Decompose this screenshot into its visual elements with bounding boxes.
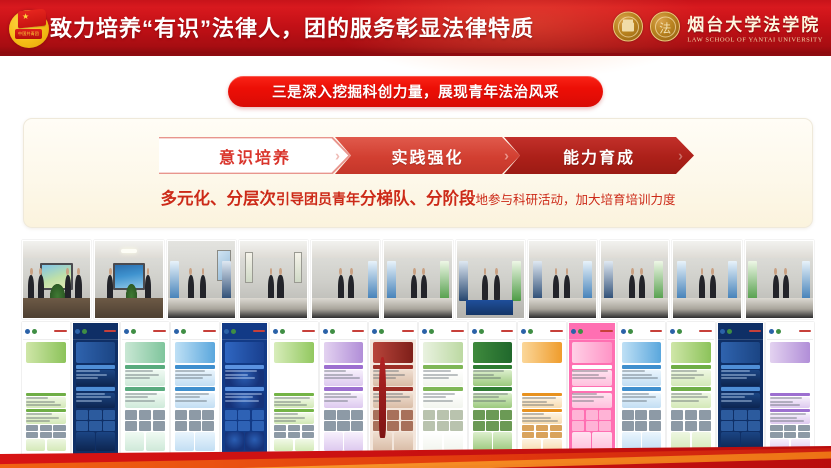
- poster-body: [622, 365, 662, 451]
- poster-item[interactable]: [72, 322, 120, 455]
- poster-text-line: [721, 377, 748, 379]
- poster-text-line: [423, 370, 451, 372]
- poster-text-line: [473, 377, 502, 379]
- poster-text-line: [175, 393, 209, 395]
- poster-photo-cell: [748, 410, 760, 420]
- poster-text-block: [175, 370, 215, 385]
- poster-header: [321, 323, 367, 340]
- poster-text-line: [76, 374, 107, 376]
- poster-header-rule: [302, 330, 314, 332]
- poster-photo-cell: [103, 410, 115, 420]
- poster-text-line: [622, 400, 647, 402]
- poster-logo-icon: [280, 329, 285, 334]
- poster-text-line: [622, 374, 652, 376]
- poster-text-block: [721, 370, 761, 385]
- poster-photo-cell: [26, 425, 38, 431]
- poster-photo-cell: [649, 410, 661, 420]
- poster-text-block: [324, 393, 364, 408]
- poster-item[interactable]: [221, 322, 269, 455]
- poster-logo-icon: [429, 329, 434, 334]
- poster-photo-cell: [500, 421, 512, 431]
- poster-item[interactable]: [171, 322, 219, 455]
- poster-logo-icon: [776, 329, 781, 334]
- poster-text-line: [423, 374, 458, 376]
- poster-section-bar: [324, 387, 364, 391]
- poster-header: [222, 323, 268, 340]
- poster-photo-cell: [202, 410, 214, 420]
- poster-text-block: [274, 413, 314, 424]
- poster-photo-cell: [238, 410, 250, 420]
- poster-text-line: [225, 400, 260, 402]
- poster-title-band: [423, 342, 463, 363]
- poster-photo-cell: [288, 425, 300, 431]
- poster-title-band: [225, 342, 265, 363]
- poster-photo-cell: [784, 432, 796, 438]
- poster-photo-cell: [572, 421, 584, 431]
- sentence-segment-3: 分梯队、分阶段: [360, 189, 476, 208]
- poster-title-band: [324, 342, 364, 363]
- brand-name-cn: 烟台大学法学院: [687, 10, 823, 35]
- poster-item[interactable]: [369, 322, 417, 455]
- poster-photo-cell: [401, 410, 413, 420]
- section-title-text: 三是深入挖掘科创力量，展现青年法治风采: [272, 81, 559, 102]
- poster-header: [420, 323, 466, 340]
- chevron-step-3-label: 能力育成: [563, 144, 635, 168]
- poster-logo-icon: [231, 329, 236, 334]
- poster-header: [569, 323, 615, 340]
- poster-body: [473, 365, 513, 451]
- poster-photo-cell: [337, 410, 349, 420]
- poster-text-line: [522, 420, 558, 422]
- poster-header-rule: [104, 330, 116, 332]
- poster-photo-cell: [798, 432, 810, 438]
- poster-text-line: [721, 396, 745, 398]
- poster-logo-icon: [224, 329, 229, 334]
- photo-item[interactable]: [745, 240, 814, 319]
- poster-section-bar: [770, 393, 810, 395]
- poster-body: [175, 365, 215, 451]
- poster-header: [271, 323, 317, 340]
- poster-section-bar: [721, 387, 761, 391]
- poster-photo-cell: [53, 425, 65, 431]
- poster-text-block: [125, 393, 165, 408]
- section-title-banner: 三是深入挖掘科创力量，展现青年法治风采: [228, 76, 603, 107]
- poster-body: [125, 365, 165, 451]
- poster-photo-cell: [175, 421, 187, 431]
- poster-text-line: [423, 393, 455, 395]
- poster-photo-cell: [153, 410, 165, 420]
- poster-text-line: [125, 374, 159, 376]
- poster-text-line: [622, 377, 659, 379]
- poster-text-line: [125, 400, 154, 402]
- poster-item[interactable]: [121, 322, 169, 455]
- university-seal-icon: [613, 12, 643, 42]
- poster-text-line: [373, 400, 400, 402]
- poster-section-bar: [324, 365, 364, 369]
- photo-item[interactable]: [456, 240, 525, 319]
- poster-text-block: [125, 370, 165, 385]
- poster-body: [770, 365, 810, 451]
- poster-text-line: [324, 377, 360, 379]
- poster-photo-cell: [622, 410, 634, 420]
- poster-text-line: [76, 396, 112, 398]
- poster-photo-cell: [770, 432, 782, 438]
- poster-text-block: [522, 413, 562, 424]
- poster-section-bar: [225, 365, 265, 369]
- poster-text-line: [770, 401, 793, 403]
- poster-header: [122, 323, 168, 340]
- poster-text-line: [423, 377, 449, 379]
- poster-text-line: [373, 370, 398, 372]
- poster-photo-cell: [189, 410, 201, 420]
- poster-item[interactable]: [469, 322, 517, 455]
- photo-item[interactable]: [528, 240, 597, 319]
- poster-text-block: [671, 393, 711, 408]
- poster-header-rule: [451, 330, 463, 332]
- poster-title-band: [125, 342, 165, 363]
- photo-item[interactable]: [22, 240, 91, 319]
- poster-photo-cell: [671, 410, 683, 420]
- poster-photo-cell: [175, 410, 187, 420]
- poster-photo-cell: [40, 432, 52, 438]
- poster-section-bar: [721, 365, 761, 369]
- poster-text-line: [175, 370, 205, 372]
- poster-logo-icon: [571, 329, 576, 334]
- poster-text-line: [26, 420, 50, 422]
- poster-text-line: [671, 377, 695, 379]
- poster-item[interactable]: [270, 322, 318, 455]
- poster-photo-cell: [536, 425, 548, 431]
- poster-title-band: [473, 342, 513, 363]
- poster-item[interactable]: [568, 322, 616, 455]
- poster-text-block: [26, 397, 66, 408]
- emblem-band-label: 中国共青团: [18, 31, 39, 37]
- poster-photo-cell: [125, 421, 137, 431]
- poster-photo-cell: [635, 421, 647, 431]
- poster-logo-icon: [528, 329, 533, 334]
- poster-photo-grid: [522, 425, 562, 438]
- poster-photo-cell: [337, 421, 349, 431]
- poster-photo-cell: [274, 432, 286, 438]
- poster-photo-cell: [103, 421, 115, 431]
- poster-text-line: [26, 404, 61, 406]
- poster-text-block: [622, 370, 662, 385]
- poster-text-line: [423, 400, 453, 402]
- poster-header-rule: [253, 330, 265, 332]
- poster-photo-grid: [770, 425, 810, 438]
- poster-photo-cell: [26, 432, 38, 438]
- poster-logo-icon: [578, 329, 583, 334]
- poster-logo-icon: [621, 329, 626, 334]
- chevron-step-2: 实践强化 ›: [335, 137, 520, 174]
- poster-photo-cell: [153, 421, 165, 431]
- poster-body: [423, 365, 463, 451]
- poster-text-line: [473, 374, 495, 376]
- poster-item[interactable]: [419, 322, 467, 455]
- poster-text-line: [225, 370, 258, 372]
- poster-text-line: [225, 374, 249, 376]
- poster-text-line: [324, 374, 353, 376]
- poster-section-bar: [225, 387, 265, 391]
- poster-text-line: [125, 396, 148, 398]
- poster-item[interactable]: [320, 322, 368, 455]
- poster-photo-cell: [770, 425, 782, 431]
- poster-text-line: [225, 396, 253, 398]
- poster-photo-cell: [550, 432, 562, 438]
- footer-ribbon: [0, 446, 831, 468]
- poster-header: [73, 323, 119, 340]
- poster-body: [324, 365, 364, 451]
- poster-section-bar: [26, 409, 66, 411]
- poster-text-line: [373, 374, 405, 376]
- research-poster-row: [22, 322, 814, 455]
- sentence-segment-1: 多元化、分层次: [160, 189, 276, 208]
- poster-diagram: [779, 367, 802, 390]
- poster-photo-cell: [699, 421, 711, 431]
- poster-photo-cell: [252, 421, 264, 431]
- content-card: 意识培养 › 实践强化 › 能力育成 › 多元化、分层次引导团员青年分梯队、分阶…: [23, 118, 813, 228]
- poster-photo-cell: [225, 410, 237, 420]
- poster-body: [721, 365, 761, 451]
- poster-item[interactable]: [766, 322, 814, 455]
- poster-logo-icon: [273, 329, 278, 334]
- poster-logo-icon: [720, 329, 725, 334]
- poster-text-line: [622, 393, 650, 395]
- poster-text-line: [671, 396, 708, 398]
- poster-item[interactable]: [667, 322, 715, 455]
- poster-header-rule: [799, 330, 811, 332]
- poster-text-line: [274, 417, 305, 419]
- poster-section-bar: [175, 387, 215, 391]
- poster-section-bar: [473, 387, 513, 391]
- poster-body: [572, 365, 612, 451]
- poster-photo-cell: [550, 425, 562, 431]
- poster-photo-cell: [189, 421, 201, 431]
- poster-photo-cell: [572, 410, 584, 420]
- poster-text-line: [522, 397, 556, 399]
- poster-text-line: [770, 420, 804, 422]
- poster-text-line: [622, 370, 645, 372]
- photo-item[interactable]: [311, 240, 380, 319]
- photo-item[interactable]: [600, 240, 669, 319]
- card-body-sentence: 多元化、分层次引导团员青年分梯队、分阶段地参与科研活动，加大培育培训力度: [24, 185, 812, 209]
- process-chevron-strip: 意识培养 › 实践强化 › 能力育成 ›: [159, 137, 709, 174]
- poster-text-line: [522, 404, 553, 406]
- poster-photo-cell: [89, 421, 101, 431]
- poster-photo-cell: [89, 410, 101, 420]
- poster-photo-cell: [473, 410, 485, 420]
- poster-photo-cell: [351, 410, 363, 420]
- poster-item[interactable]: [22, 322, 70, 455]
- poster-text-block: [473, 370, 513, 385]
- poster-photo-cell: [76, 421, 88, 431]
- poster-logo-icon: [422, 329, 427, 334]
- poster-title-band: [622, 342, 662, 363]
- poster-section-bar: [522, 393, 562, 395]
- poster-text-line: [274, 413, 298, 415]
- poster-photo-grid: [423, 410, 463, 431]
- poster-text-line: [26, 417, 59, 419]
- poster-header: [718, 323, 764, 340]
- poster-photo-cell: [500, 410, 512, 420]
- poster-photo-cell: [401, 421, 413, 431]
- poster-header: [668, 323, 714, 340]
- poster-logo-icon: [330, 329, 335, 334]
- poster-text-line: [770, 413, 806, 415]
- poster-text-line: [324, 396, 358, 398]
- poster-title-band: [76, 342, 116, 363]
- poster-header-rule: [203, 330, 215, 332]
- poster-text-line: [125, 393, 157, 395]
- poster-photo-grid: [622, 410, 662, 431]
- poster-logo-icon: [75, 329, 80, 334]
- poster-logo-icon: [25, 329, 30, 334]
- poster-text-line: [274, 404, 307, 406]
- poster-section-bar: [76, 365, 116, 369]
- poster-header: [23, 323, 69, 340]
- poster-photo-grid: [175, 410, 215, 431]
- poster-logo-icon: [379, 329, 384, 334]
- poster-title-band: [175, 342, 215, 363]
- poster-section-bar: [671, 365, 711, 369]
- poster-item[interactable]: [717, 322, 765, 455]
- poster-header: [767, 323, 813, 340]
- poster-section-bar: [473, 365, 513, 369]
- poster-text-line: [671, 393, 702, 395]
- poster-photo-grid: [225, 410, 265, 431]
- poster-header-rule: [600, 330, 612, 332]
- poster-text-line: [671, 400, 699, 402]
- poster-header: [172, 323, 218, 340]
- poster-text-block: [572, 393, 612, 408]
- poster-photo-cell: [721, 421, 733, 431]
- poster-text-line: [572, 374, 599, 376]
- poster-text-line: [125, 377, 150, 379]
- poster-photo-cell: [784, 425, 796, 431]
- poster-photo-cell: [252, 410, 264, 420]
- poster-section-bar: [522, 409, 562, 411]
- poster-section-bar: [423, 365, 463, 369]
- poster-text-line: [76, 377, 98, 379]
- poster-photo-cell: [599, 410, 611, 420]
- poster-photo-cell: [473, 421, 485, 431]
- poster-ribbon-graphic: [379, 357, 386, 438]
- slide-header-title: 致力培养“有识”法律人，团的服务彰显法律特质: [50, 11, 534, 43]
- poster-photo-cell: [423, 421, 435, 431]
- poster-text-line: [671, 370, 697, 372]
- poster-text-block: [522, 397, 562, 408]
- poster-logo-icon: [372, 329, 377, 334]
- poster-photo-cell: [225, 421, 237, 431]
- poster-text-line: [572, 370, 608, 372]
- poster-photo-cell: [635, 410, 647, 420]
- poster-body: [225, 365, 265, 451]
- poster-header-rule: [352, 330, 364, 332]
- poster-text-line: [175, 396, 200, 398]
- poster-text-line: [721, 370, 750, 372]
- photo-item[interactable]: [383, 240, 452, 319]
- poster-photo-cell: [423, 410, 435, 420]
- poster-photo-grid: [473, 410, 513, 431]
- poster-item[interactable]: [518, 322, 566, 455]
- photo-item[interactable]: [672, 240, 741, 319]
- poster-title-band: [770, 342, 810, 363]
- poster-photo-cell: [798, 425, 810, 431]
- poster-text-block: [26, 413, 66, 424]
- poster-logo-icon: [181, 329, 186, 334]
- poster-photo-cell: [53, 432, 65, 438]
- photo-item[interactable]: [239, 240, 308, 319]
- poster-title-band: [671, 342, 711, 363]
- poster-logo-icon: [131, 329, 136, 334]
- poster-header-rule: [550, 330, 562, 332]
- poster-item[interactable]: [618, 322, 666, 455]
- photo-item[interactable]: [167, 240, 236, 319]
- poster-text-line: [671, 374, 704, 376]
- poster-section-bar: [770, 409, 810, 411]
- poster-photo-grid: [26, 425, 66, 438]
- poster-text-line: [26, 413, 52, 415]
- poster-text-block: [225, 370, 265, 385]
- poster-logo-icon: [32, 329, 37, 334]
- poster-section-bar: [26, 393, 66, 395]
- poster-photo-cell: [387, 410, 399, 420]
- poster-text-line: [373, 393, 403, 395]
- poster-text-line: [26, 397, 48, 399]
- poster-text-line: [572, 396, 604, 398]
- poster-title-band: [373, 342, 413, 363]
- poster-section-bar: [572, 387, 612, 391]
- poster-photo-cell: [721, 410, 733, 420]
- chevron-arrow-icon: ›: [678, 147, 685, 164]
- poster-text-block: [423, 393, 463, 408]
- poster-header: [470, 323, 516, 340]
- poster-header: [519, 323, 565, 340]
- poster-photo-grid: [125, 410, 165, 431]
- poster-section-bar: [175, 365, 215, 369]
- poster-text-line: [423, 396, 446, 398]
- photo-item[interactable]: [94, 240, 163, 319]
- poster-text-line: [770, 404, 799, 406]
- chevron-step-1-label: 意识培养: [219, 144, 291, 168]
- poster-header-rule: [153, 330, 165, 332]
- poster-photo-cell: [437, 410, 449, 420]
- poster-text-line: [225, 377, 256, 379]
- poster-photo-cell: [324, 421, 336, 431]
- poster-text-line: [473, 370, 504, 372]
- poster-body: [671, 365, 711, 451]
- poster-text-line: [770, 417, 797, 419]
- poster-photo-cell: [685, 410, 697, 420]
- poster-text-line: [721, 393, 754, 395]
- poster-photo-cell: [76, 410, 88, 420]
- poster-photo-cell: [586, 410, 598, 420]
- brand-lockup: 烟台大学法学院 LAW SCHOOL OF YANTAI UNIVERSITY: [613, 10, 823, 43]
- poster-photo-cell: [238, 421, 250, 431]
- poster-header-rule: [699, 330, 711, 332]
- poster-logo-icon: [82, 329, 87, 334]
- poster-body: [76, 365, 116, 451]
- poster-photo-cell: [586, 421, 598, 431]
- poster-body: [522, 365, 562, 451]
- poster-text-block: [76, 370, 116, 385]
- poster-text-line: [473, 393, 508, 395]
- poster-photo-grid: [671, 410, 711, 431]
- poster-text-block: [225, 393, 265, 408]
- poster-text-line: [324, 370, 347, 372]
- poster-logo-icon: [479, 329, 484, 334]
- sentence-segment-4: 地参与科研活动，加大培育培训力度: [475, 193, 675, 207]
